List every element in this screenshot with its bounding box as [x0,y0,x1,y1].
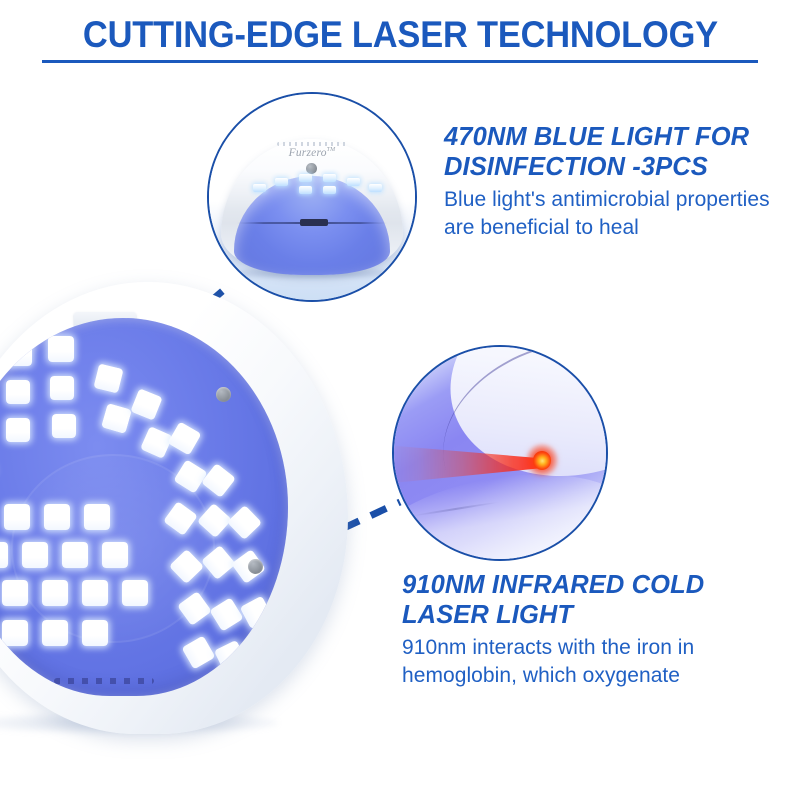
infrared-laser-body: 910nm interacts with the iron in hemoglo… [402,634,792,690]
brand-logo: FurzeroTM [209,147,415,159]
product-nail-lamp [0,282,348,734]
dome-led [275,178,288,186]
lamp-led [48,336,74,362]
lamp-led [201,463,236,498]
lamp-led [130,388,163,421]
dome-led [253,184,266,192]
title-underline [42,60,758,63]
lamp-led [209,597,243,631]
lamp-led [42,580,68,606]
lamp-led [44,504,70,530]
trademark-mark: TM [327,147,336,153]
lamp-led [82,620,108,646]
callout-laser-circle [392,345,608,561]
callout-blue-light-circle: FurzeroTM [207,92,417,302]
lamp-led [6,380,30,404]
lamp-led [42,620,68,646]
dome-led [347,178,360,186]
lamp-led [6,340,32,366]
text-block-infrared-laser: 910NM INFRARED COLD LASER LIGHT 910nm in… [402,570,792,690]
lamp-led [167,421,201,455]
lamp-led [181,635,215,669]
lamp-led [101,403,132,434]
lamp-led [4,504,30,530]
dome-led [323,174,336,182]
dome-power-button[interactable] [306,163,317,174]
lamp-led [2,580,28,606]
dome-latch [300,219,329,226]
lamp-led [122,580,148,606]
lamp-led [227,505,262,540]
infographic-canvas: CUTTING-EDGE LASER TECHNOLOGY FurzeroTM [0,0,800,800]
lamp-sensor-dots [54,678,154,684]
dome-led [369,184,382,192]
lamp-screw [216,387,231,402]
dome-led [299,174,312,182]
lamp-led [93,363,123,393]
dome-led [299,186,312,194]
lamp-led [50,376,74,400]
lamp-led [22,542,48,568]
text-block-blue-light: 470NM BLUE LIGHT FOR DISINFECTION -3PCS … [444,122,796,242]
blue-light-heading: 470NM BLUE LIGHT FOR DISINFECTION -3PCS [444,122,796,182]
lamp-led [52,414,76,438]
brand-logo-text: Furzero [289,147,327,159]
lamp-screw [248,559,263,574]
lamp-led [84,504,110,530]
dome-led [323,186,336,194]
lamp-led [62,542,88,568]
page-title-text: CUTTING-EDGE LASER TECHNOLOGY [82,16,717,55]
lamp-led [0,542,8,568]
lamp-led [82,580,108,606]
page-title: CUTTING-EDGE LASER TECHNOLOGY [0,16,800,55]
blue-light-body: Blue light's antimicrobial properties ar… [444,186,796,242]
lamp-led [6,418,30,442]
infrared-laser-heading: 910NM INFRARED COLD LASER LIGHT [402,570,792,630]
lamp-led [2,620,28,646]
lamp-led [102,542,128,568]
laser-point [533,451,551,469]
